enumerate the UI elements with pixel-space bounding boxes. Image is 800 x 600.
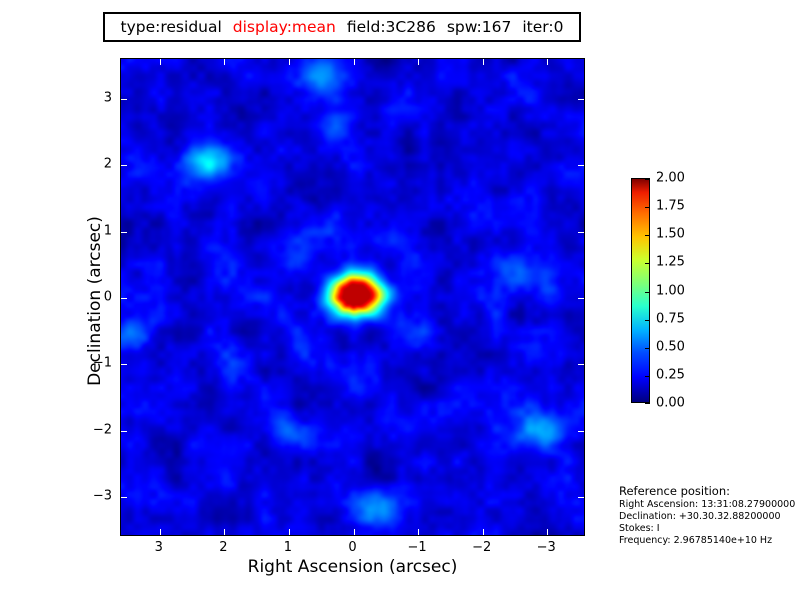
- reference-right-ascension: Right Ascension: 13:31:08.27900000: [619, 499, 799, 511]
- title-field: field:3C286: [347, 18, 436, 36]
- image-plot-panel[interactable]: [120, 58, 585, 536]
- y-tick-mark: [578, 99, 584, 100]
- y-tick-label: 2: [80, 157, 112, 172]
- y-tick-mark: [578, 497, 584, 498]
- colorbar-tick-mark: [645, 263, 650, 264]
- x-tick-label: −2: [472, 540, 491, 555]
- x-tick-mark: [224, 529, 225, 535]
- colorbar-tick-label: 1.75: [656, 199, 685, 214]
- x-axis-label: Right Ascension (arcsec): [120, 557, 585, 577]
- title-type: type:residual: [121, 18, 222, 36]
- reference-frequency: Frequency: 2.96785140e+10 Hz: [619, 535, 799, 547]
- y-tick-label: 0: [80, 290, 112, 305]
- title-spw: spw:167: [447, 18, 512, 36]
- title-display: display:mean: [233, 18, 336, 36]
- y-tick-mark: [578, 165, 584, 166]
- y-tick-label: 1: [80, 223, 112, 238]
- x-tick-mark: [224, 59, 225, 65]
- y-tick-mark: [121, 497, 127, 498]
- reference-position-block: Reference position: Right Ascension: 13:…: [619, 484, 799, 547]
- x-tick-mark: [354, 59, 355, 65]
- y-tick-mark: [578, 431, 584, 432]
- colorbar-tick-label: 2.00: [656, 171, 685, 186]
- y-tick-label: −3: [80, 489, 112, 504]
- colorbar-tick-label: 1.50: [656, 227, 685, 242]
- x-tick-label: 3: [155, 540, 163, 555]
- x-tick-mark: [160, 59, 161, 65]
- y-tick-mark: [578, 364, 584, 365]
- x-tick-mark: [547, 59, 548, 65]
- colorbar-tick-mark: [645, 235, 650, 236]
- y-tick-mark: [121, 364, 127, 365]
- residual-image-canvas[interactable]: [121, 59, 584, 535]
- reference-position-heading: Reference position:: [619, 484, 799, 498]
- x-tick-mark: [418, 59, 419, 65]
- colorbar-tick-mark: [645, 403, 650, 404]
- y-tick-mark: [121, 232, 127, 233]
- colorbar-tick-mark: [645, 179, 650, 180]
- colorbar-tick-mark: [645, 292, 650, 293]
- x-tick-label: 1: [284, 540, 292, 555]
- reference-declination: Declination: +30.30.32.88200000: [619, 511, 799, 523]
- title-info-box: type:residualdisplay:meanfield:3C286spw:…: [103, 12, 581, 42]
- x-tick-label: −3: [537, 540, 556, 555]
- colorbar-tick-mark: [645, 320, 650, 321]
- colorbar-tick-label: 0.75: [656, 311, 685, 326]
- y-tick-label: −2: [80, 422, 112, 437]
- x-tick-mark: [160, 529, 161, 535]
- x-tick-mark: [483, 59, 484, 65]
- x-tick-label: 0: [348, 540, 356, 555]
- x-tick-mark: [354, 529, 355, 535]
- colorbar[interactable]: [631, 178, 650, 403]
- y-tick-mark: [121, 99, 127, 100]
- colorbar-tick-label: 0.00: [656, 396, 685, 411]
- colorbar-tick-mark: [645, 348, 650, 349]
- y-tick-mark: [578, 232, 584, 233]
- y-tick-label: −1: [80, 356, 112, 371]
- title-iter: iter:0: [522, 18, 563, 36]
- x-tick-label: −1: [407, 540, 426, 555]
- colorbar-tick-label: 1.25: [656, 255, 685, 270]
- colorbar-tick-mark: [645, 207, 650, 208]
- x-tick-mark: [289, 529, 290, 535]
- y-tick-label: 3: [80, 90, 112, 105]
- colorbar-tick-label: 0.50: [656, 339, 685, 354]
- colorbar-tick-label: 0.25: [656, 367, 685, 382]
- x-tick-mark: [418, 529, 419, 535]
- y-tick-mark: [121, 165, 127, 166]
- colorbar-tick-mark: [645, 376, 650, 377]
- x-tick-mark: [547, 529, 548, 535]
- colorbar-tick-label: 1.00: [656, 283, 685, 298]
- x-tick-mark: [483, 529, 484, 535]
- y-tick-mark: [121, 298, 127, 299]
- y-tick-mark: [121, 431, 127, 432]
- y-tick-mark: [578, 298, 584, 299]
- reference-stokes: Stokes: I: [619, 523, 799, 535]
- x-tick-mark: [289, 59, 290, 65]
- x-tick-label: 2: [219, 540, 227, 555]
